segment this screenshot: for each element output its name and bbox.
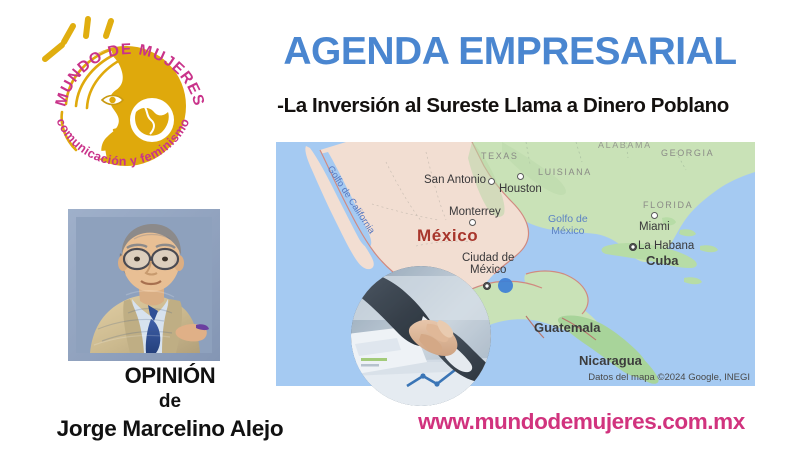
map-geometry	[276, 142, 755, 386]
map-dot-houston	[517, 173, 524, 180]
portrait-illustration	[68, 209, 220, 361]
graphic-canvas: MUNDO DE MUJERES comunicación y feminism…	[0, 0, 800, 450]
map-dot-monterrey	[469, 219, 476, 226]
opinion-label: OPINIÓN	[0, 363, 340, 389]
mundo-de-mujeres-logo[interactable]: MUNDO DE MUJERES comunicación y feminism…	[16, 8, 216, 198]
author-name: Jorge Marcelino Alejo	[0, 414, 340, 444]
opinion-block: OPINIÓN de Jorge Marcelino Alejo	[0, 363, 340, 444]
map-attribution: Datos del mapa ©2024 Google, INEGI	[588, 372, 750, 383]
business-handshake-photo	[351, 266, 491, 406]
map-dot-miami	[651, 212, 658, 219]
map-dot-la-habana	[629, 243, 637, 251]
puebla-marker[interactable]	[498, 278, 513, 293]
logo-icon: MUNDO DE MUJERES comunicación y feminism…	[16, 8, 216, 198]
map-dot-ciudad-de-mexico	[483, 282, 491, 290]
page-title: AGENDA EMPRESARIAL	[232, 28, 788, 76]
handshake-illustration	[351, 266, 491, 406]
author-portrait	[68, 209, 220, 361]
page-subtitle: -La Inversión al Sureste Llama a Dinero …	[218, 93, 788, 119]
map-dot-san-antonio	[488, 178, 495, 185]
website-url[interactable]: www.mundodemujeres.com.mx	[363, 409, 800, 435]
map-canvas: Golfo de México Golfo de California TEXA…	[276, 142, 755, 386]
opinion-de-label: de	[0, 389, 340, 414]
map-image[interactable]: Golfo de México Golfo de California TEXA…	[276, 142, 755, 386]
